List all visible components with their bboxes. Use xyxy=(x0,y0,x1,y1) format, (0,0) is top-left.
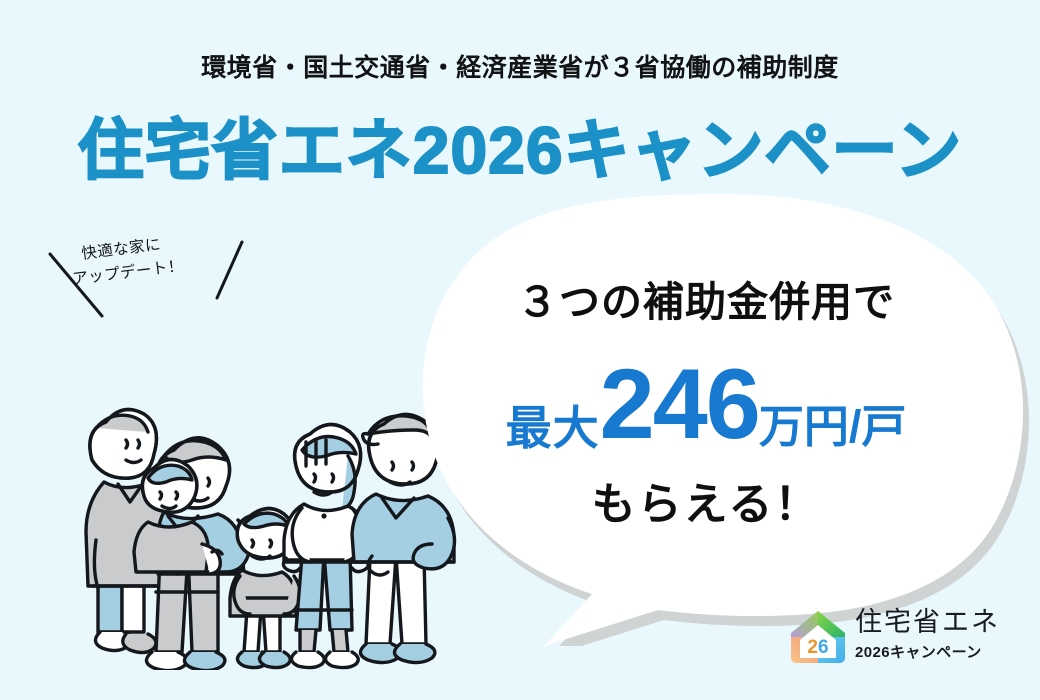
logo-text-block: 住宅省エネ 2026キャンペーン xyxy=(855,607,1025,662)
campaign-logo[interactable]: 26 住宅省エネ 2026キャンペーン xyxy=(789,606,1025,670)
amount-prefix: 最大 xyxy=(506,402,600,454)
logo-name: 住宅省エネ xyxy=(855,607,1025,638)
eyebrow-text: 環境省・国土交通省・経済産業省が３省協働の補助制度 xyxy=(0,48,1040,84)
bubble-line-1: ３つの補助金併用で xyxy=(406,268,1006,328)
svg-text:26: 26 xyxy=(807,637,828,658)
amount-value: 246 xyxy=(600,348,759,459)
speech-bubble: ３つの補助金併用で 最大246万円/戸 もらえる！ xyxy=(406,176,1040,646)
amount-unit: 万円/戸 xyxy=(759,401,907,452)
promo-banner: 環境省・国土交通省・経済産業省が３省協働の補助制度 住宅省エネ2026キャンペー… xyxy=(0,0,1040,700)
bubble-amount: 最大246万円/戸 xyxy=(406,354,1006,453)
house-logo-icon: 26 xyxy=(789,608,847,666)
logo-campaign: 2026キャンペーン xyxy=(855,641,1025,662)
bubble-content: ３つの補助金併用で 最大246万円/戸 もらえる！ xyxy=(406,176,1040,646)
bubble-line-3: もらえる！ xyxy=(406,468,1006,532)
